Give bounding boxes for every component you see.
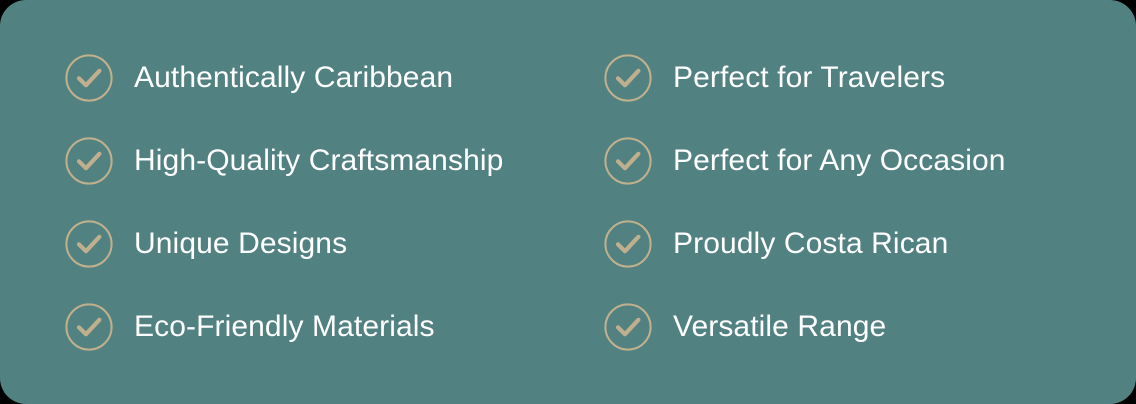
- benefits-panel: Authentically Caribbean Perfect for Trav…: [0, 0, 1136, 404]
- check-circle-icon: [65, 303, 113, 351]
- check-circle-icon: [604, 54, 652, 102]
- benefit-label: Unique Designs: [134, 229, 347, 259]
- benefit-label: High-Quality Craftsmanship: [134, 146, 503, 176]
- benefit-label: Eco-Friendly Materials: [134, 312, 435, 342]
- benefits-grid: Authentically Caribbean Perfect for Trav…: [0, 0, 1136, 404]
- check-circle-icon: [65, 54, 113, 102]
- check-circle-icon: [604, 220, 652, 268]
- benefit-label: Authentically Caribbean: [134, 63, 453, 93]
- benefit-item-perfect-for-travelers: Perfect for Travelers: [604, 37, 1136, 120]
- benefit-item-versatile-range: Versatile Range: [604, 286, 1136, 369]
- benefit-item-perfect-for-any-occasion: Perfect for Any Occasion: [604, 120, 1136, 203]
- benefit-label: Proudly Costa Rican: [673, 229, 948, 259]
- benefit-item-unique-designs: Unique Designs: [65, 203, 604, 286]
- benefit-label: Perfect for Any Occasion: [673, 146, 1006, 176]
- benefit-item-proudly-costa-rican: Proudly Costa Rican: [604, 203, 1136, 286]
- benefit-item-eco-friendly-materials: Eco-Friendly Materials: [65, 286, 604, 369]
- check-circle-icon: [65, 137, 113, 185]
- benefit-item-high-quality-craftsmanship: High-Quality Craftsmanship: [65, 120, 604, 203]
- check-circle-icon: [65, 220, 113, 268]
- benefit-label: Perfect for Travelers: [673, 63, 945, 93]
- benefit-item-authentically-caribbean: Authentically Caribbean: [65, 37, 604, 120]
- check-circle-icon: [604, 137, 652, 185]
- benefit-label: Versatile Range: [673, 312, 886, 342]
- check-circle-icon: [604, 303, 652, 351]
